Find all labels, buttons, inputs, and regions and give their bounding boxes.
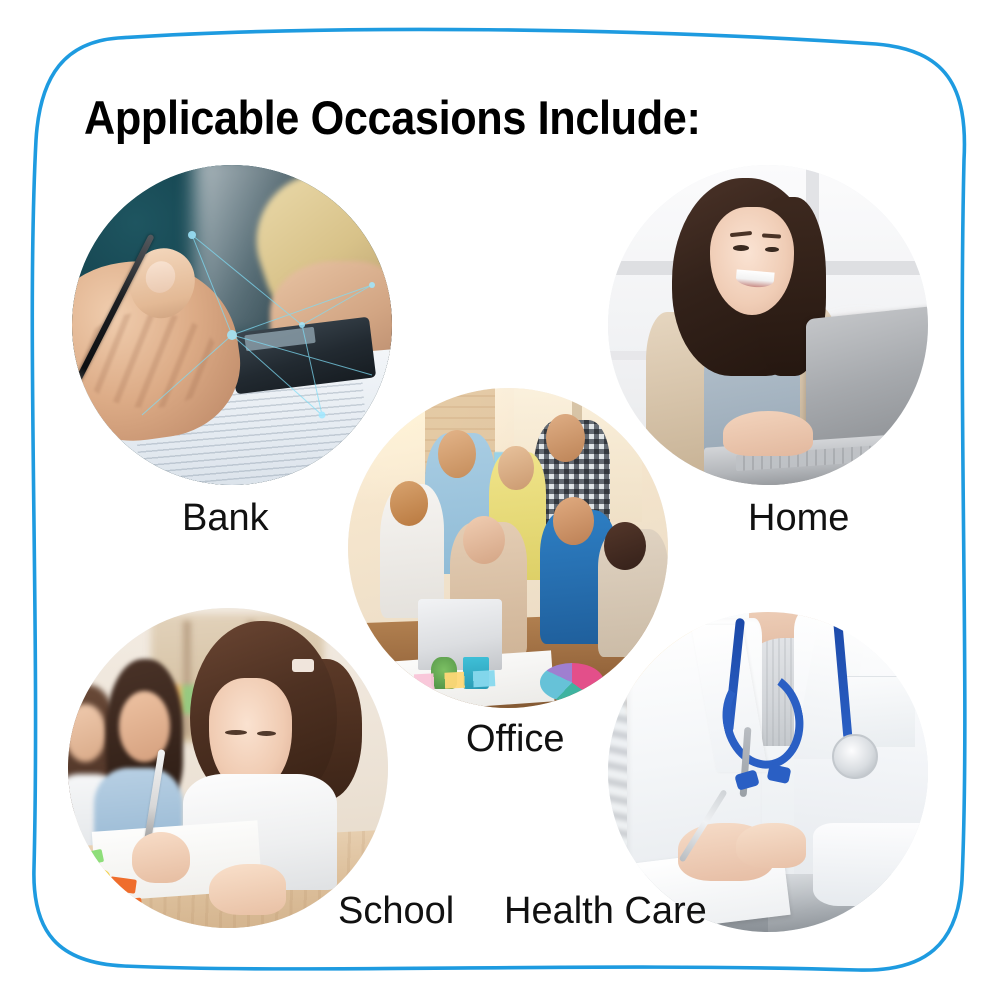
network-overlay-icon (72, 165, 392, 485)
page-title: Applicable Occasions Include: (84, 92, 700, 144)
occasion-label-home: Home (748, 497, 849, 539)
occasion-image-school (68, 608, 388, 928)
occasion-label-office: Office (466, 718, 565, 760)
occasion-label-healthcare: Health Care (504, 890, 707, 932)
occasion-image-healthcare (608, 612, 928, 932)
occasion-image-bank (72, 165, 392, 485)
occasion-label-bank: Bank (182, 497, 269, 539)
infographic-canvas: Applicable Occasions Include: (0, 0, 1000, 1000)
occasion-label-school: School (338, 890, 454, 932)
